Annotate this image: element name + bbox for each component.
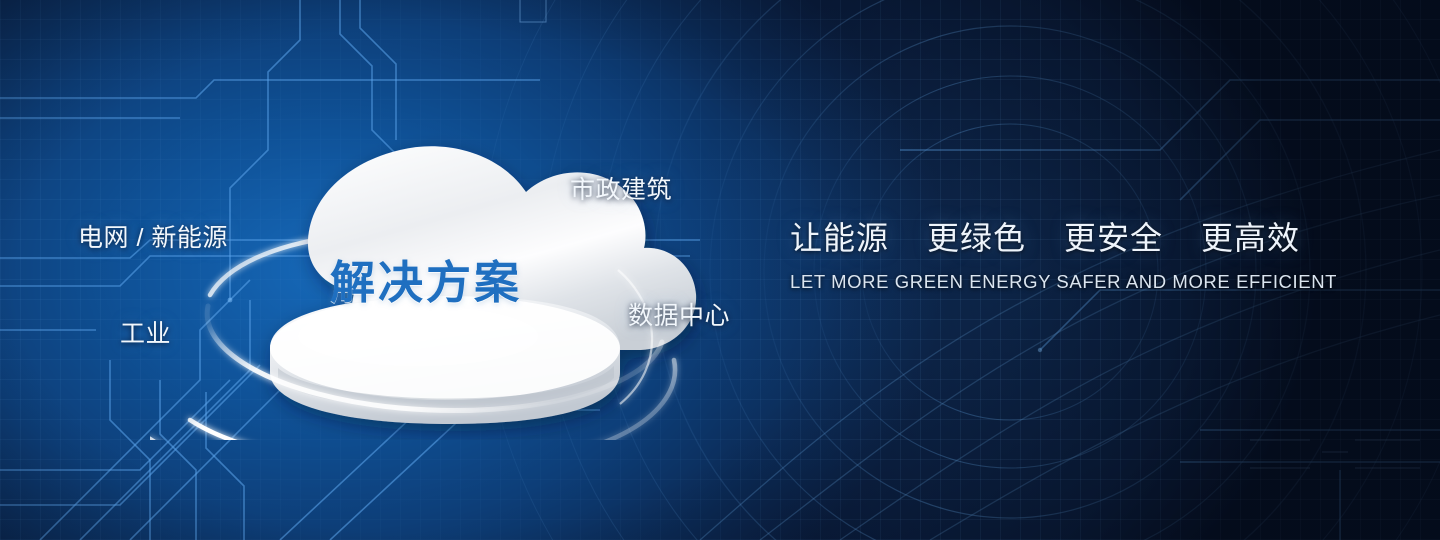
orbit-label-grid-new-energy: 电网 / 新能源 <box>78 226 228 251</box>
headline-block: 让能源 更绿色 更安全 更高效 LET MORE GREEN ENERGY SA… <box>790 222 1350 293</box>
orbit-label-municipal-building: 市政建筑 <box>570 178 672 203</box>
cloud-graphic: 解决方案 <box>150 120 710 440</box>
cloud-title: 解决方案 <box>330 246 522 311</box>
headline-english: LET MORE GREEN ENERGY SAFER AND MORE EFF… <box>790 271 1350 293</box>
orbit-label-data-center: 数据中心 <box>628 304 730 329</box>
solution-banner: 解决方案 电网 / 新能源 工业 市政建筑 数据中心 让能源 更绿色 更安全 更… <box>0 0 1440 540</box>
headline-phrase-3: 更安全 <box>1064 222 1163 254</box>
headline-phrase-2: 更绿色 <box>927 222 1026 254</box>
headline-phrase-1: 让能源 <box>790 222 889 254</box>
headline-chinese: 让能源 更绿色 更安全 更高效 <box>790 222 1350 254</box>
orbit-label-industry: 工业 <box>120 322 171 347</box>
headline-phrase-4: 更高效 <box>1201 222 1300 254</box>
